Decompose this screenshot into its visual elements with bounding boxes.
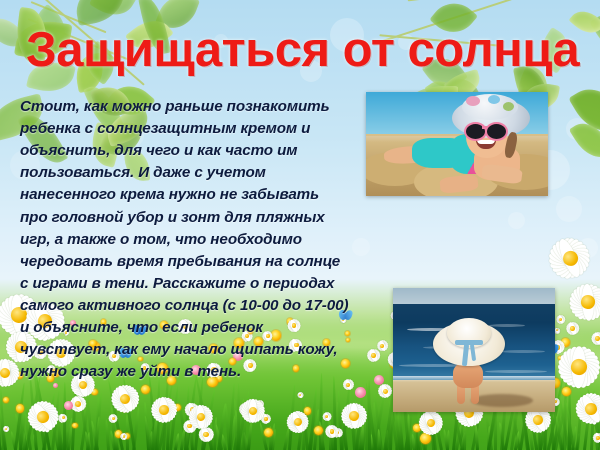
presentation-slide: Защищаться от солнца Стоит, как можно ра… [0,0,600,450]
photo-beach-toddler [393,288,555,412]
cast-shadow [471,394,533,407]
hat-ribbon [455,340,483,345]
page-title: Защищаться от солнца [26,26,582,75]
sunglasses-icon [464,122,487,141]
photo-beach-girl [366,92,548,196]
sunglasses-icon [485,122,508,141]
body-paragraph: Стоит, как можно раньше познакомить ребе… [20,96,350,383]
